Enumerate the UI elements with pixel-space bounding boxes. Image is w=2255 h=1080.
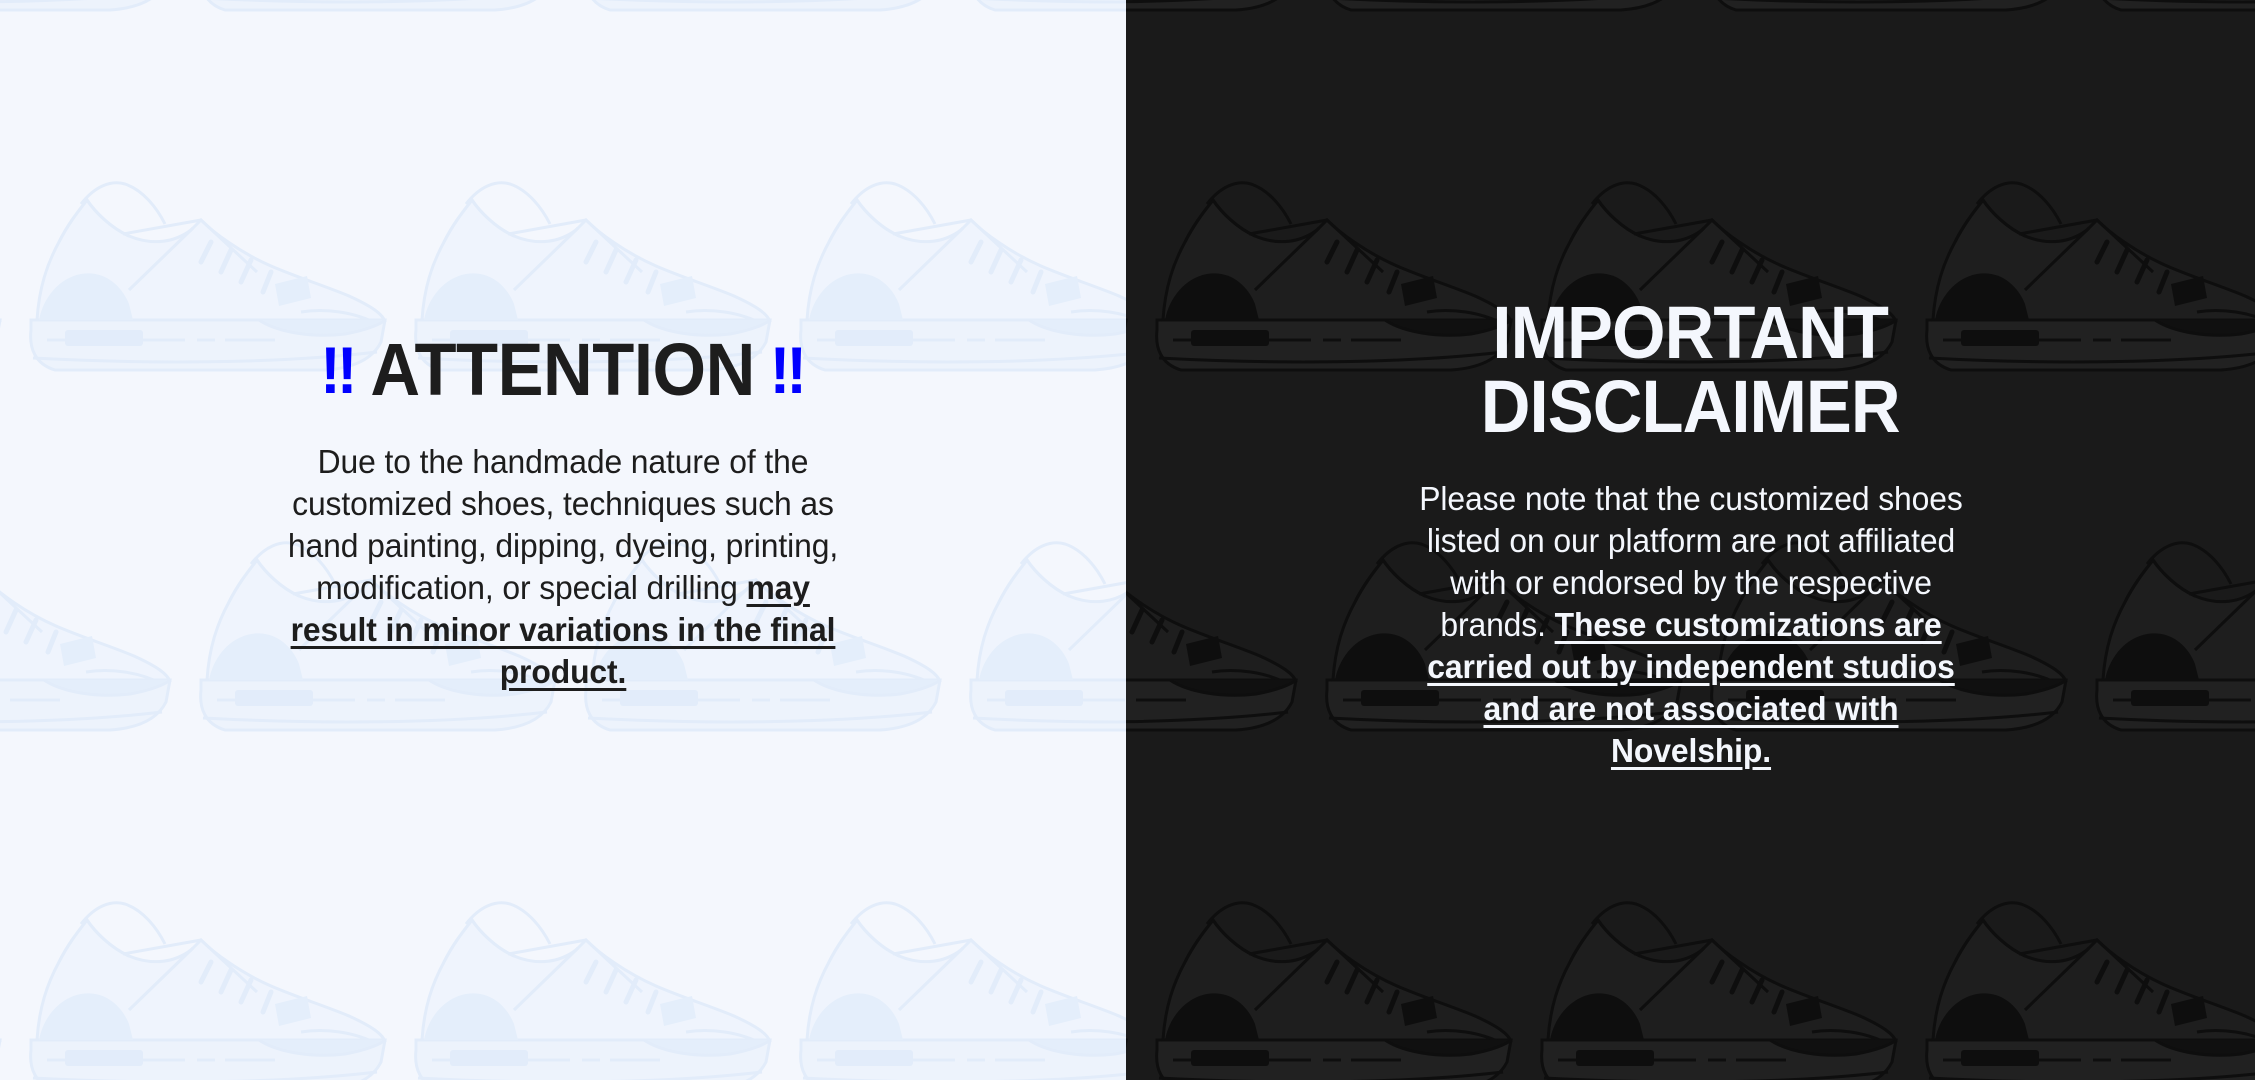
dual-notice-banner: ‼ATTENTION‼ Due to the handmade nature o…: [0, 0, 2255, 1080]
disclaimer-heading-line2: DISCLAIMER: [1481, 370, 1900, 444]
disclaimer-heading: IMPORTANTDISCLAIMER: [1481, 296, 1900, 444]
disclaimer-panel: IMPORTANTDISCLAIMER Please note that the…: [1126, 0, 2255, 1080]
double-exclamation-icon-right: ‼: [770, 333, 805, 407]
attention-heading: ‼ATTENTION‼: [321, 333, 806, 407]
disclaimer-body: Please note that the customized shoes li…: [1401, 478, 1980, 772]
attention-body: Due to the handmade nature of the custom…: [283, 441, 843, 693]
attention-panel: ‼ATTENTION‼ Due to the handmade nature o…: [0, 0, 1126, 1080]
attention-heading-word: ATTENTION: [371, 328, 755, 411]
double-exclamation-icon-left: ‼: [321, 333, 356, 407]
attention-content: ‼ATTENTION‼ Due to the handmade nature o…: [0, 0, 1126, 1080]
disclaimer-content: IMPORTANTDISCLAIMER Please note that the…: [1126, 0, 2255, 1080]
disclaimer-heading-line1: IMPORTANT: [1481, 296, 1900, 370]
